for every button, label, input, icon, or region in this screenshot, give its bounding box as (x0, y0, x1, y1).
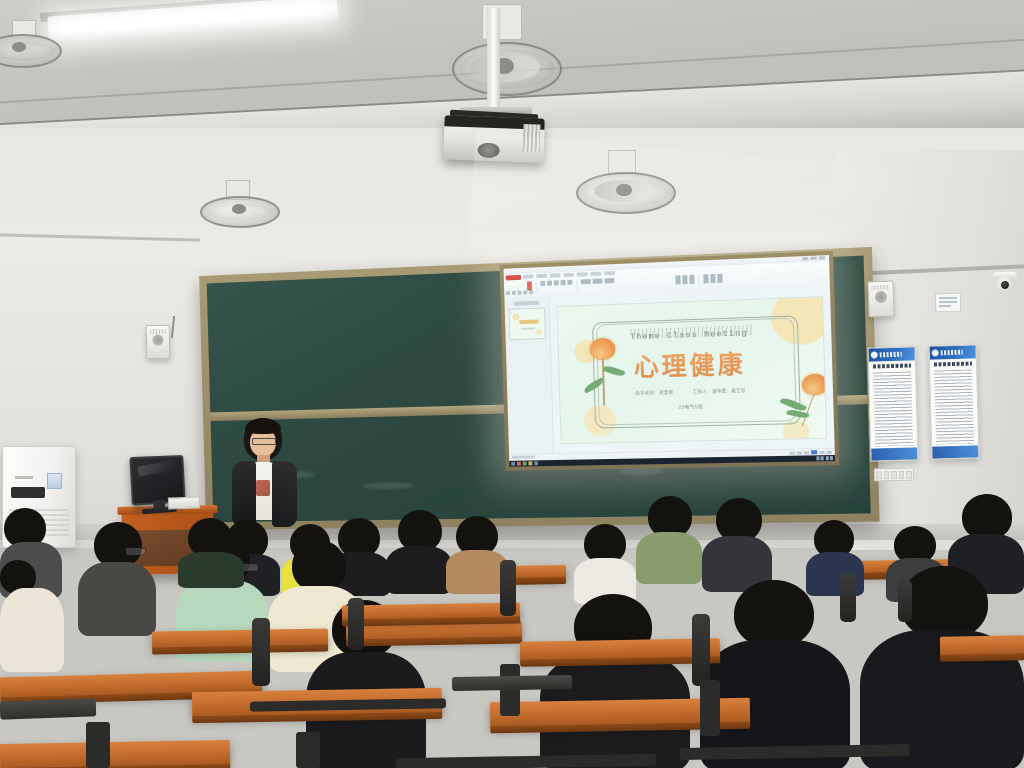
poster-footer-band (871, 447, 917, 460)
slide-thumbnail-1[interactable]: 1 (509, 307, 546, 340)
fan-hub (616, 184, 632, 196)
underline-icon[interactable] (561, 280, 566, 285)
ribbon-separator (536, 281, 537, 292)
chair-back-6 (898, 580, 912, 622)
student-body (636, 532, 702, 584)
screen-glare (137, 460, 177, 477)
status-view-controls[interactable] (790, 450, 832, 455)
light-switch[interactable] (884, 471, 890, 479)
desk-upper-center (342, 602, 520, 621)
slideshow-icon[interactable] (811, 450, 817, 454)
poster-body-text (934, 370, 974, 445)
fan-hub (12, 42, 26, 52)
desk-edge (940, 653, 1024, 661)
classroom-photo: 1 (0, 0, 1024, 768)
normal-view-icon[interactable] (790, 451, 795, 454)
slide-canvas[interactable]: Theme Class Meeting 心理健康 指导老师：谢慧娜 汇报人：潘伟… (558, 297, 826, 442)
poster-title (934, 362, 972, 367)
wps-presentation-window[interactable]: 1 (504, 255, 836, 467)
desk-edge (346, 636, 522, 646)
glasses-icon (252, 438, 276, 445)
font-icon[interactable] (540, 281, 545, 286)
chair-back-1 (252, 618, 270, 686)
speaker-cone (875, 291, 887, 303)
ceiling-fan-right (572, 150, 682, 230)
speaker-grill (872, 285, 890, 291)
advisor-credit: 指导老师：谢慧娜 (635, 390, 673, 396)
screen-frame: 1 (500, 251, 840, 471)
student-back-5 (446, 516, 508, 586)
ribbon-tab[interactable] (523, 274, 534, 278)
layout-icon[interactable] (523, 290, 527, 294)
close-icon[interactable] (819, 256, 825, 259)
status-slide-indicator (512, 455, 535, 458)
ribbon-secondary-row[interactable] (506, 290, 533, 295)
poster-header-band (869, 347, 915, 361)
light-switch[interactable] (906, 470, 912, 478)
projection-screen[interactable]: 1 (500, 251, 840, 471)
fan-hub (232, 204, 246, 214)
start-button[interactable] (511, 462, 515, 466)
taskbar-app-icon[interactable] (534, 461, 538, 465)
student-hair (734, 580, 814, 648)
shapes-icon[interactable] (675, 275, 680, 284)
student-back-8 (702, 498, 772, 588)
student-body (178, 552, 244, 588)
podium-papers (168, 496, 200, 509)
ceiling-fan-left (0, 20, 60, 80)
align-center-icon[interactable] (593, 279, 603, 284)
student-body (386, 546, 452, 594)
desk-leg-1 (86, 722, 110, 768)
slide-number: 1 (511, 311, 513, 315)
wall-speaker-right (867, 281, 894, 318)
light-switch[interactable] (899, 470, 905, 478)
desk-nearest-left (0, 740, 230, 768)
light-switch[interactable] (876, 471, 882, 479)
desk-crossbar-2 (396, 754, 656, 768)
italic-icon[interactable] (554, 280, 559, 285)
file-menu-button[interactable] (506, 275, 521, 281)
ribbon-tab[interactable] (536, 274, 547, 278)
clock[interactable] (830, 456, 833, 460)
slide-chinese-title: 心理健康 (559, 342, 824, 386)
slide-editing-stage[interactable]: Theme Class Meeting 心理健康 指导老师：谢慧娜 汇报人：潘伟… (549, 286, 834, 454)
replace-icon[interactable] (710, 274, 715, 283)
student-hair (292, 540, 346, 592)
ribbon-tab[interactable] (550, 273, 561, 277)
chair-back-5 (840, 574, 856, 622)
desk-middle-left (152, 628, 328, 649)
presenter-credit: 汇报人：潘伟霆、戴艺欣 (693, 388, 746, 394)
window-controls[interactable] (802, 256, 825, 260)
bench-seat-center (452, 675, 572, 691)
tray-icon[interactable] (825, 456, 828, 460)
zoom-slider[interactable] (819, 451, 824, 454)
ribbon-tab[interactable] (563, 273, 574, 277)
projector (443, 115, 544, 162)
quick-styles-icon[interactable] (689, 275, 694, 284)
presenter-fringe (245, 418, 281, 434)
projector-vent (523, 124, 541, 153)
desk-middle-right (520, 638, 720, 661)
wall-notice-sign (935, 293, 961, 312)
chalk-smudge (363, 482, 415, 490)
school-logo-icon (932, 349, 939, 356)
taskbar-app-icons[interactable] (511, 461, 538, 465)
sign-text-line (939, 301, 957, 303)
desk-leg-2 (296, 732, 320, 768)
align-left-icon[interactable] (581, 279, 591, 284)
desk-right-edge (940, 635, 1024, 656)
minimize-icon[interactable] (802, 257, 808, 260)
ac-energy-label (47, 473, 62, 489)
student-back-4 (386, 510, 452, 588)
thumbnail-panel-header (514, 301, 539, 306)
notice-poster-safety-rules (929, 344, 980, 459)
presenter-jacket-right (272, 461, 297, 527)
slide-thumbnail-panel[interactable]: 1 (504, 296, 554, 455)
tray-icon[interactable] (816, 456, 819, 460)
student-body (446, 550, 508, 594)
ribbon-tab[interactable] (604, 271, 615, 275)
taskbar-app-icon[interactable] (517, 462, 521, 466)
thumbnail-blob (513, 313, 520, 320)
taskbar-app-icon[interactable] (528, 461, 532, 465)
school-logo-icon (871, 351, 878, 358)
chair-back-4 (692, 614, 710, 686)
dome-security-camera (992, 272, 1018, 294)
ribbon-separator (576, 280, 577, 291)
school-name-text (880, 352, 902, 358)
speaker-cone (152, 335, 163, 346)
projector-lens-icon (477, 142, 500, 158)
maximize-icon[interactable] (810, 257, 816, 260)
poster-body-text (873, 372, 913, 447)
student-back-7 (636, 496, 702, 580)
bullets-icon[interactable] (604, 278, 614, 283)
bench-seat-left (0, 698, 96, 719)
fit-slide-icon[interactable] (827, 450, 832, 453)
light-switch[interactable] (891, 470, 897, 478)
school-name-text (941, 350, 963, 356)
select-icon[interactable] (717, 274, 722, 283)
thumbnail-subtitle-block (522, 328, 535, 330)
poster-title (873, 364, 911, 369)
glasses-icon (126, 548, 146, 555)
fan-bracket (608, 150, 636, 174)
ceiling-fan-left-wall (200, 180, 280, 236)
student-hair (900, 566, 988, 640)
desk-leg-4 (700, 680, 720, 736)
poster-footer-band (932, 445, 978, 458)
sorter-view-icon[interactable] (797, 451, 802, 454)
chair-back-2 (348, 598, 364, 650)
speaker-grill (150, 329, 166, 334)
student-middle-5 (178, 518, 244, 578)
student-body (0, 588, 64, 672)
font-color-icon[interactable] (567, 280, 572, 285)
presenter-shirt-graphic (256, 480, 270, 496)
desk-edge (0, 764, 230, 768)
student-front-3 (700, 580, 850, 768)
ribbon-tab[interactable] (577, 272, 588, 276)
ribbon-separator (698, 275, 699, 286)
wall-speaker-left (146, 325, 171, 359)
projector-mount-pole (487, 8, 500, 120)
ceiling-fan-center (440, 4, 560, 104)
notice-poster-usage-rules (868, 346, 919, 461)
thumbnail-blob (536, 329, 542, 335)
section-icon[interactable] (529, 290, 533, 294)
poster-header-band (930, 345, 976, 359)
ac-brand-label (15, 476, 33, 479)
undo-icon[interactable] (506, 291, 510, 295)
find-icon[interactable] (703, 274, 708, 283)
reading-view-icon[interactable] (804, 451, 809, 454)
camera-lens-icon (1001, 281, 1009, 289)
sign-text-line (939, 297, 957, 299)
new-slide-icon[interactable] (518, 291, 522, 295)
ac-display-panel (11, 487, 45, 498)
bold-icon[interactable] (547, 281, 552, 286)
student-presenter (228, 418, 298, 528)
taskbar-app-icon[interactable] (523, 462, 527, 466)
thumbnail-title-block (519, 320, 538, 325)
student-middle-6 (0, 560, 64, 668)
wall-switch-panel[interactable] (874, 468, 914, 482)
ribbon-tab[interactable] (590, 272, 601, 276)
redo-icon[interactable] (512, 291, 516, 295)
student-body (78, 562, 156, 636)
student-middle-2 (78, 522, 156, 632)
sign-text-line (939, 305, 951, 307)
student-back-6 (574, 524, 636, 596)
student-front-4 (860, 566, 1024, 768)
fan-cage (0, 34, 62, 68)
tray-icon[interactable] (820, 456, 823, 460)
paste-icon[interactable] (527, 281, 532, 290)
ppt-workspace[interactable]: 1 (504, 286, 834, 455)
chair-back-3 (500, 560, 516, 616)
arrange-icon[interactable] (682, 275, 687, 284)
taskbar-system-tray[interactable] (816, 456, 833, 460)
ribbon-group-arrange[interactable] (675, 274, 722, 287)
ribbon-group-clipboard[interactable] (527, 278, 615, 292)
